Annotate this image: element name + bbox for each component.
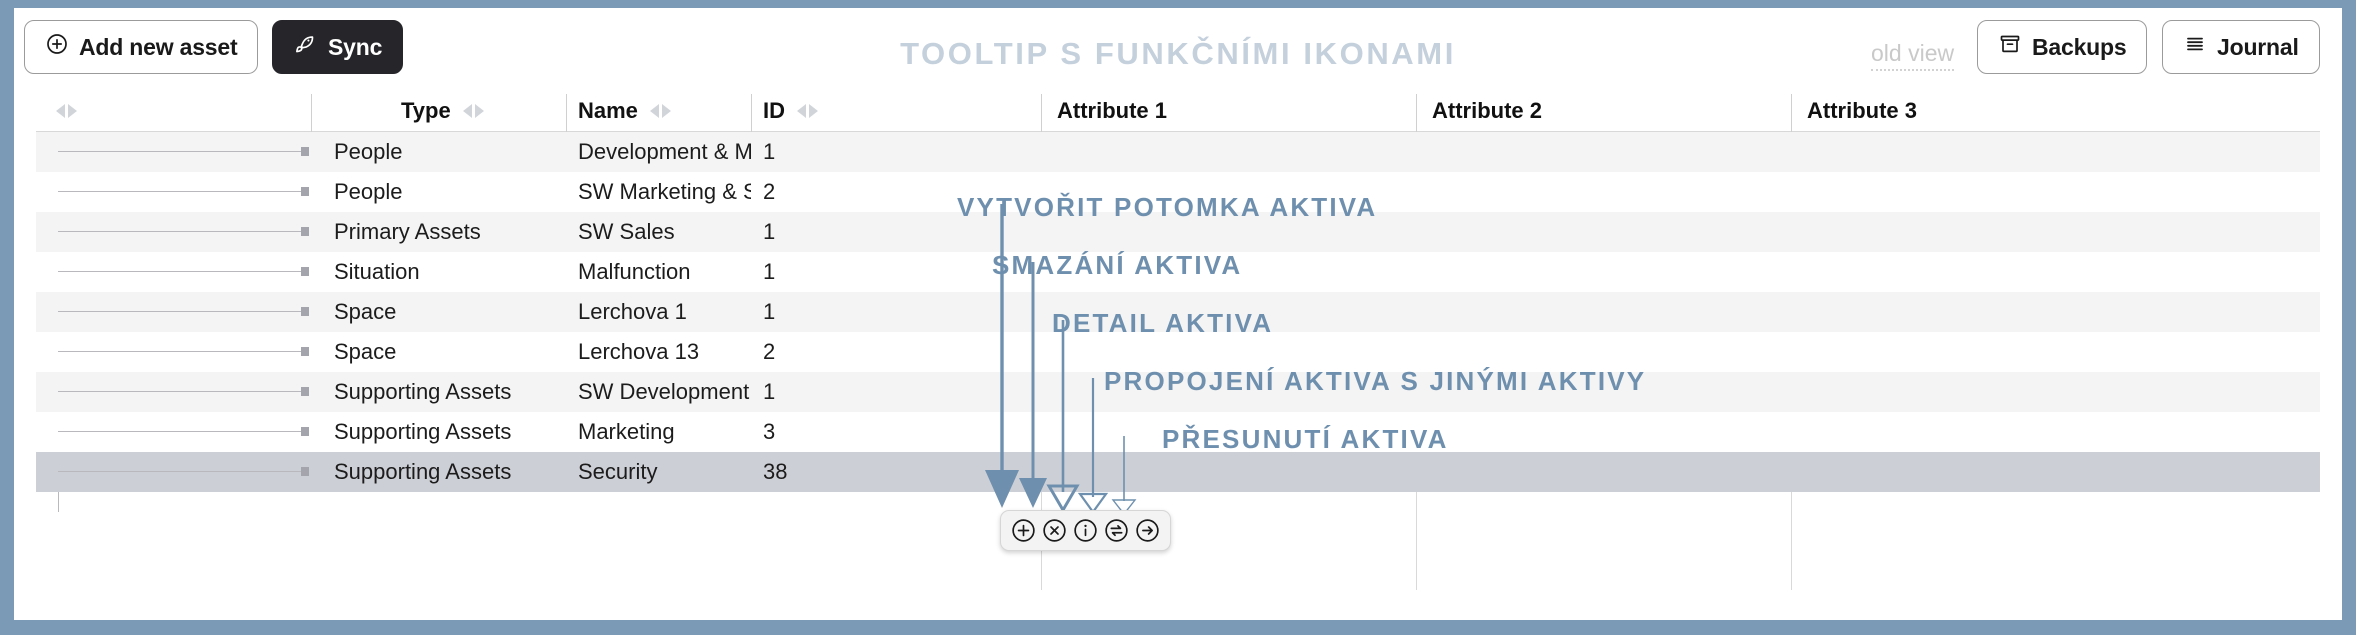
arrow-right-circle-icon[interactable]: [1134, 517, 1161, 544]
cell-type: People: [311, 132, 566, 172]
tree-node-marker: [301, 267, 309, 276]
tree-node-marker: [301, 307, 309, 316]
tree-indent-cell: [36, 292, 311, 332]
rocket-icon: [293, 32, 318, 63]
tree-indent-cell: [36, 132, 311, 172]
tree-node-marker: [301, 387, 309, 396]
sort-arrows-icon[interactable]: [56, 104, 77, 118]
cell-attr3: [1791, 412, 2320, 452]
plus-circle-icon[interactable]: [1010, 517, 1037, 544]
tree-node-marker: [301, 347, 309, 356]
cell-attr2: [1416, 452, 1791, 492]
tree-indent-cell: [36, 252, 311, 292]
column-header-attribute-2[interactable]: Attribute 2: [1416, 90, 1791, 132]
cell-name: SW Development: [566, 372, 751, 412]
cell-name: Marketing: [566, 412, 751, 452]
tree-branch-line: [58, 231, 303, 232]
cell-type: Primary Assets: [311, 212, 566, 252]
cell-attr3: [1791, 332, 2320, 372]
annotation-label: PŘESUNUTÍ AKTIVA: [1162, 424, 1449, 455]
tree-indent-cell: [36, 332, 311, 372]
cell-attr2: [1416, 252, 1791, 292]
tree-branch-line: [58, 191, 303, 192]
cell-name: SW Marketing & Sales: [566, 172, 751, 212]
table-row[interactable]: PeopleDevelopment & Manu...1: [36, 132, 2320, 172]
cell-attr2: [1416, 292, 1791, 332]
sort-arrows-icon[interactable]: [463, 104, 484, 118]
sort-arrows-icon[interactable]: [650, 104, 671, 118]
tree-branch-line: [58, 271, 303, 272]
cell-attr3: [1791, 372, 2320, 412]
column-header-type[interactable]: Type: [311, 90, 566, 132]
cell-attr3: [1791, 292, 2320, 332]
cell-name: SW Sales: [566, 212, 751, 252]
table-row[interactable]: Supporting AssetsSecurity38: [36, 452, 2320, 492]
cell-id: 2: [751, 332, 1041, 372]
info-circle-icon[interactable]: [1072, 517, 1099, 544]
assets-table: Type Name ID Attribute 1: [36, 90, 2320, 590]
cell-type: Situation: [311, 252, 566, 292]
top-toolbar: Add new asset Sync old view: [14, 8, 2342, 90]
cell-attr2: [1416, 212, 1791, 252]
table-header-row: Type Name ID Attribute 1: [36, 90, 2320, 132]
cell-type: Supporting Assets: [311, 412, 566, 452]
tree-indent-cell: [36, 372, 311, 412]
cell-id: 1: [751, 372, 1041, 412]
tree-branch-line: [58, 431, 303, 432]
tree-indent-cell: [36, 172, 311, 212]
tree-node-marker: [301, 187, 309, 196]
annotation-label: PROPOJENÍ AKTIVA S JINÝMI AKTIVY: [1104, 366, 1646, 397]
sort-arrows-icon[interactable]: [797, 104, 818, 118]
cell-attr2: [1416, 132, 1791, 172]
add-new-asset-label: Add new asset: [79, 34, 237, 61]
tree-branch-line: [58, 391, 303, 392]
tree-node-marker: [301, 467, 309, 476]
cell-attr3: [1791, 172, 2320, 212]
cell-type: Supporting Assets: [311, 452, 566, 492]
tree-node-marker: [301, 147, 309, 156]
cell-attr3: [1791, 212, 2320, 252]
journal-label: Journal: [2217, 34, 2299, 61]
column-header-tree[interactable]: [36, 90, 311, 132]
cell-attr3: [1791, 132, 2320, 172]
cell-attr1: [1041, 132, 1416, 172]
close-circle-icon[interactable]: [1041, 517, 1068, 544]
tree-branch-line: [58, 151, 303, 152]
tree-indent-cell: [36, 452, 311, 492]
column-header-attribute-3[interactable]: Attribute 3: [1791, 90, 2320, 132]
column-header-name[interactable]: Name: [566, 90, 751, 132]
sync-button[interactable]: Sync: [272, 20, 403, 74]
app-canvas: Add new asset Sync old view: [14, 8, 2342, 620]
window-frame: Add new asset Sync old view: [0, 0, 2356, 635]
cell-attr2: [1416, 412, 1791, 452]
cell-name: Lerchova 1: [566, 292, 751, 332]
cell-id: 3: [751, 412, 1041, 452]
list-lines-icon: [2183, 32, 2207, 62]
annotation-label: SMAZÁNÍ AKTIVA: [992, 250, 1242, 281]
cell-attr3: [1791, 452, 2320, 492]
backups-label: Backups: [2032, 34, 2126, 61]
cell-attr2: [1416, 172, 1791, 212]
tree-branch-line: [58, 471, 303, 472]
tree-node-marker: [301, 227, 309, 236]
cell-id: 38: [751, 452, 1041, 492]
annotation-label: DETAIL AKTIVA: [1052, 308, 1273, 339]
cell-name: Lerchova 13: [566, 332, 751, 372]
tree-branch-line: [58, 351, 303, 352]
add-new-asset-button[interactable]: Add new asset: [24, 20, 258, 74]
asset-actions-tooltip: [1000, 510, 1171, 551]
link-swap-circle-icon[interactable]: [1103, 517, 1130, 544]
old-view-link[interactable]: old view: [1871, 40, 1954, 71]
cell-attr3: [1791, 252, 2320, 292]
column-header-attribute-1[interactable]: Attribute 1: [1041, 90, 1416, 132]
journal-button[interactable]: Journal: [2162, 20, 2320, 74]
cell-name: Malfunction: [566, 252, 751, 292]
backups-button[interactable]: Backups: [1977, 20, 2147, 74]
annotation-label: VYTVOŘIT POTOMKA AKTIVA: [957, 192, 1377, 223]
cell-id: 1: [751, 292, 1041, 332]
column-header-id[interactable]: ID: [751, 90, 1041, 132]
cell-type: Space: [311, 292, 566, 332]
cell-name: Security: [566, 452, 751, 492]
tree-indent-cell: [36, 212, 311, 252]
cell-type: Space: [311, 332, 566, 372]
plus-circle-icon: [45, 32, 69, 62]
cell-type: People: [311, 172, 566, 212]
tree-branch-line: [58, 311, 303, 312]
cell-type: Supporting Assets: [311, 372, 566, 412]
sync-label: Sync: [328, 34, 382, 61]
tree-indent-cell: [36, 412, 311, 452]
cell-id: 1: [751, 132, 1041, 172]
cell-attr1: [1041, 452, 1416, 492]
archive-box-icon: [1998, 32, 2022, 62]
tree-node-marker: [301, 427, 309, 436]
cell-name: Development & Manu...: [566, 132, 751, 172]
